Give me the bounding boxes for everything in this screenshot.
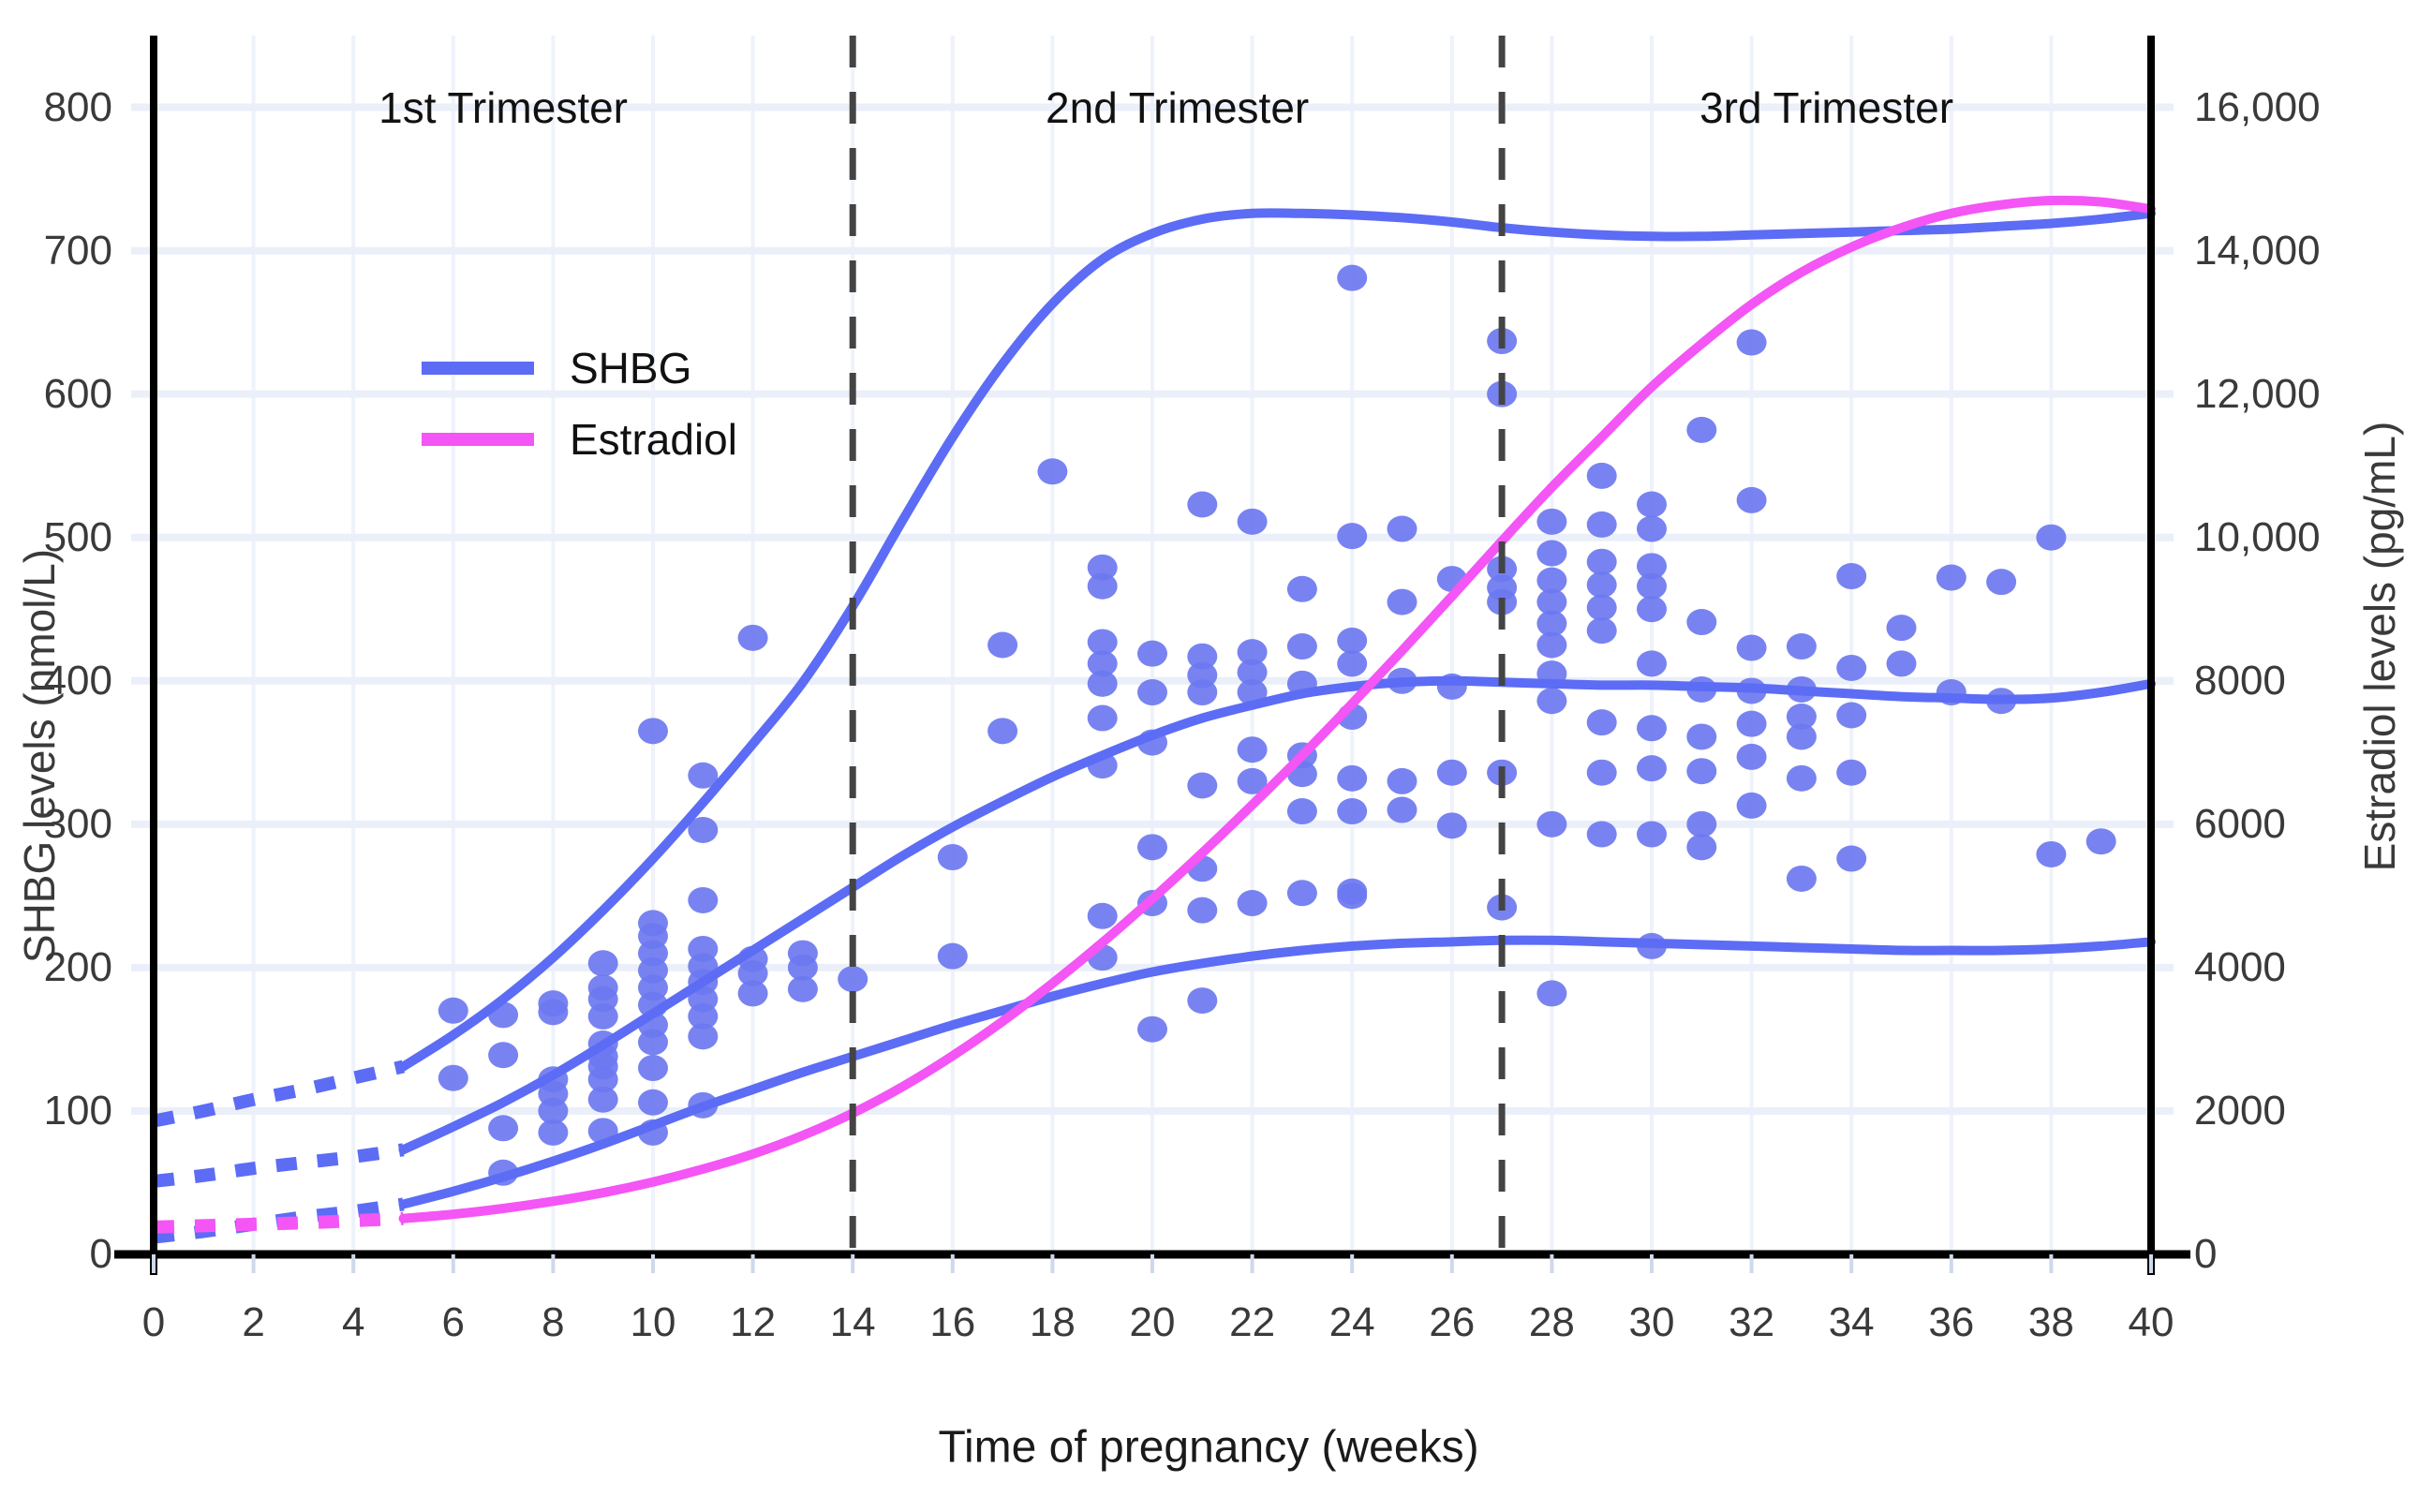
y-tick-label-right: 0: [2194, 1231, 2217, 1278]
scatter-point: [1637, 492, 1667, 518]
x-tick-label: 14: [830, 1299, 876, 1346]
y-tick-label-left: 100: [44, 1088, 112, 1134]
scatter-point: [438, 1065, 468, 1091]
y-tick-label-right: 6000: [2194, 801, 2286, 848]
scatter-point: [1787, 765, 1817, 792]
scatter-point: [1637, 755, 1667, 781]
trimester-label-3: 3rd Trimester: [1699, 82, 1953, 133]
scatter-point: [1937, 565, 1966, 591]
x-tick-label: 18: [1030, 1299, 1076, 1346]
scatter-point: [1238, 890, 1268, 916]
scatter-point: [1088, 671, 1118, 697]
scatter-point: [1437, 760, 1467, 786]
chart-figure: SHBG levels (nmol/L) Estradiol levels (p…: [0, 0, 2419, 1512]
scatter-point: [1836, 655, 1866, 681]
scatter-point: [2036, 525, 2066, 551]
scatter-point: [2036, 841, 2066, 867]
scatter-point: [1587, 760, 1617, 786]
scatter-point: [638, 1055, 668, 1081]
scatter-point: [1037, 458, 1067, 484]
scatter-point: [1388, 516, 1417, 542]
legend-label-estradiol: Estradiol: [570, 414, 737, 465]
y-tick-label-right: 14,000: [2194, 228, 2321, 274]
scatter-point: [1337, 628, 1367, 654]
y-tick-label-left: 400: [44, 658, 112, 704]
y-tick-label-left: 700: [44, 228, 112, 274]
scatter-point: [1388, 768, 1417, 794]
x-tick-label: 40: [2129, 1299, 2174, 1346]
x-tick-label: 12: [730, 1299, 776, 1346]
scatter-point: [1637, 596, 1667, 622]
scatter-point: [1287, 880, 1317, 906]
scatter-point: [1637, 650, 1667, 676]
scatter-point: [1587, 822, 1617, 848]
scatter-point: [738, 980, 768, 1006]
y-tick-label-right: 16,000: [2194, 84, 2321, 131]
scatter-point: [938, 943, 968, 970]
scatter-point: [1587, 463, 1617, 489]
scatter-point: [938, 844, 968, 870]
scatter-point: [1388, 589, 1417, 615]
scatter-point: [638, 1029, 668, 1055]
trimester-label-1: 1st Trimester: [378, 82, 628, 133]
scatter-point: [1337, 765, 1367, 792]
scatter-point: [788, 976, 818, 1002]
x-axis-label: Time of pregnancy (weeks): [938, 1422, 1478, 1474]
y-tick-label-left: 800: [44, 84, 112, 131]
x-tick-label: 26: [1429, 1299, 1475, 1346]
x-tick-label: 16: [929, 1299, 975, 1346]
scatter-point: [1187, 897, 1217, 924]
x-tick-label: 22: [1229, 1299, 1275, 1346]
y-axis-label-right: Estradiol levels (pg/mL): [2354, 422, 2405, 872]
scatter-point: [1587, 709, 1617, 735]
y-tick-label-left: 200: [44, 944, 112, 991]
scatter-point: [1088, 573, 1118, 600]
scatter-point: [1238, 509, 1268, 535]
scatter-point: [1337, 265, 1367, 291]
scatter-point: [1137, 679, 1167, 705]
scatter-point: [1187, 492, 1217, 518]
scatter-point: [987, 632, 1017, 659]
scatter-point: [1737, 711, 1767, 737]
scatter-point: [588, 950, 618, 976]
x-tick-label: 34: [1829, 1299, 1875, 1346]
scatter-point: [1337, 798, 1367, 824]
scatter-point: [1238, 736, 1268, 763]
x-tick-label: 28: [1529, 1299, 1575, 1346]
y-tick-label-right: 4000: [2194, 944, 2286, 991]
x-tick-label: 4: [342, 1299, 364, 1346]
scatter-point: [638, 718, 668, 744]
scatter-point: [1088, 903, 1118, 929]
scatter-point: [1536, 688, 1566, 714]
scatter-point: [1536, 509, 1566, 535]
scatter-point: [1737, 330, 1767, 356]
scatter-point: [1536, 811, 1566, 838]
x-tick-label: 8: [542, 1299, 564, 1346]
y-tick-label-left: 500: [44, 514, 112, 561]
scatter-point: [1887, 615, 1917, 641]
scatter-point: [1137, 641, 1167, 667]
scatter-point: [1587, 571, 1617, 598]
scatter-point: [1137, 1016, 1167, 1043]
scatter-point: [488, 1042, 518, 1068]
scatter-point: [1686, 417, 1716, 443]
plot-canvas: [0, 0, 2419, 1512]
scatter-point: [1787, 723, 1817, 749]
scatter-point: [838, 966, 868, 992]
y-tick-label-left: 0: [90, 1231, 112, 1278]
scatter-point: [1536, 632, 1566, 659]
scatter-point: [1836, 846, 1866, 872]
x-tick-label: 20: [1130, 1299, 1176, 1346]
scatter-point: [1587, 549, 1617, 575]
scatter-point: [588, 1087, 618, 1113]
scatter-point: [1637, 715, 1667, 741]
scatter-point: [1637, 822, 1667, 848]
scatter-point: [538, 999, 568, 1025]
x-tick-label: 38: [2028, 1299, 2074, 1346]
scatter-point: [1137, 834, 1167, 860]
scatter-point: [1187, 679, 1217, 705]
scatter-point: [1836, 760, 1866, 786]
scatter-point: [1388, 797, 1417, 823]
scatter-point: [1187, 987, 1217, 1014]
scatter-point: [438, 998, 468, 1024]
y-tick-label-right: 12,000: [2194, 371, 2321, 418]
x-tick-label: 6: [442, 1299, 465, 1346]
x-tick-label: 24: [1329, 1299, 1375, 1346]
scatter-point: [1287, 798, 1317, 824]
scatter-point: [688, 1023, 718, 1049]
scatter-point: [1587, 595, 1617, 621]
scatter-point: [1686, 834, 1716, 860]
scatter-point: [1737, 487, 1767, 513]
y-tick-label-left: 600: [44, 371, 112, 418]
scatter-point: [1587, 617, 1617, 644]
scatter-point: [1536, 541, 1566, 567]
scatter-point: [1836, 563, 1866, 589]
scatter-point: [1587, 511, 1617, 538]
scatter-point: [1287, 576, 1317, 602]
y-tick-label-right: 10,000: [2194, 514, 2321, 561]
scatter-point: [2086, 828, 2116, 854]
scatter-point: [1887, 650, 1917, 676]
scatter-point: [688, 887, 718, 913]
scatter-point: [1337, 882, 1367, 909]
scatter-point: [1536, 980, 1566, 1006]
y-tick-label-right: 2000: [2194, 1088, 2286, 1134]
x-tick-label: 30: [1629, 1299, 1675, 1346]
y-tick-label-left: 300: [44, 801, 112, 848]
x-tick-label: 36: [1928, 1299, 1974, 1346]
scatter-point: [588, 1003, 618, 1030]
scatter-point: [987, 718, 1017, 744]
scatter-point: [488, 1115, 518, 1141]
scatter-point: [1986, 569, 2016, 595]
scatter-point: [1287, 633, 1317, 660]
legend-label-shbg: SHBG: [570, 343, 691, 393]
x-tick-label: 32: [1729, 1299, 1774, 1346]
scatter-point: [1686, 609, 1716, 635]
scatter-point: [1737, 793, 1767, 819]
scatter-point: [1737, 744, 1767, 770]
x-tick-label: 0: [142, 1299, 165, 1346]
scatter-point: [1637, 573, 1667, 600]
scatter-point: [738, 625, 768, 651]
scatter-point: [1187, 772, 1217, 798]
scatter-point: [1836, 702, 1866, 728]
scatter-point: [1337, 650, 1367, 676]
scatter-point: [538, 1119, 568, 1146]
y-axis-label-left: SHBG levels (nmol/L): [14, 549, 65, 963]
scatter-point: [1686, 723, 1716, 749]
scatter-point: [1787, 866, 1817, 892]
scatter-point: [1337, 523, 1367, 549]
y-tick-label-right: 8000: [2194, 658, 2286, 704]
x-tick-label: 10: [631, 1299, 676, 1346]
scatter-point: [1637, 516, 1667, 542]
scatter-point: [1088, 705, 1118, 732]
x-tick-label: 2: [242, 1299, 264, 1346]
scatter-point: [1686, 758, 1716, 784]
trimester-label-2: 2nd Trimester: [1046, 82, 1309, 133]
scatter-point: [1437, 812, 1467, 838]
scatter-point: [1686, 811, 1716, 838]
scatter-point: [1787, 633, 1817, 660]
scatter-point: [1737, 635, 1767, 661]
scatter-point: [638, 1090, 668, 1116]
